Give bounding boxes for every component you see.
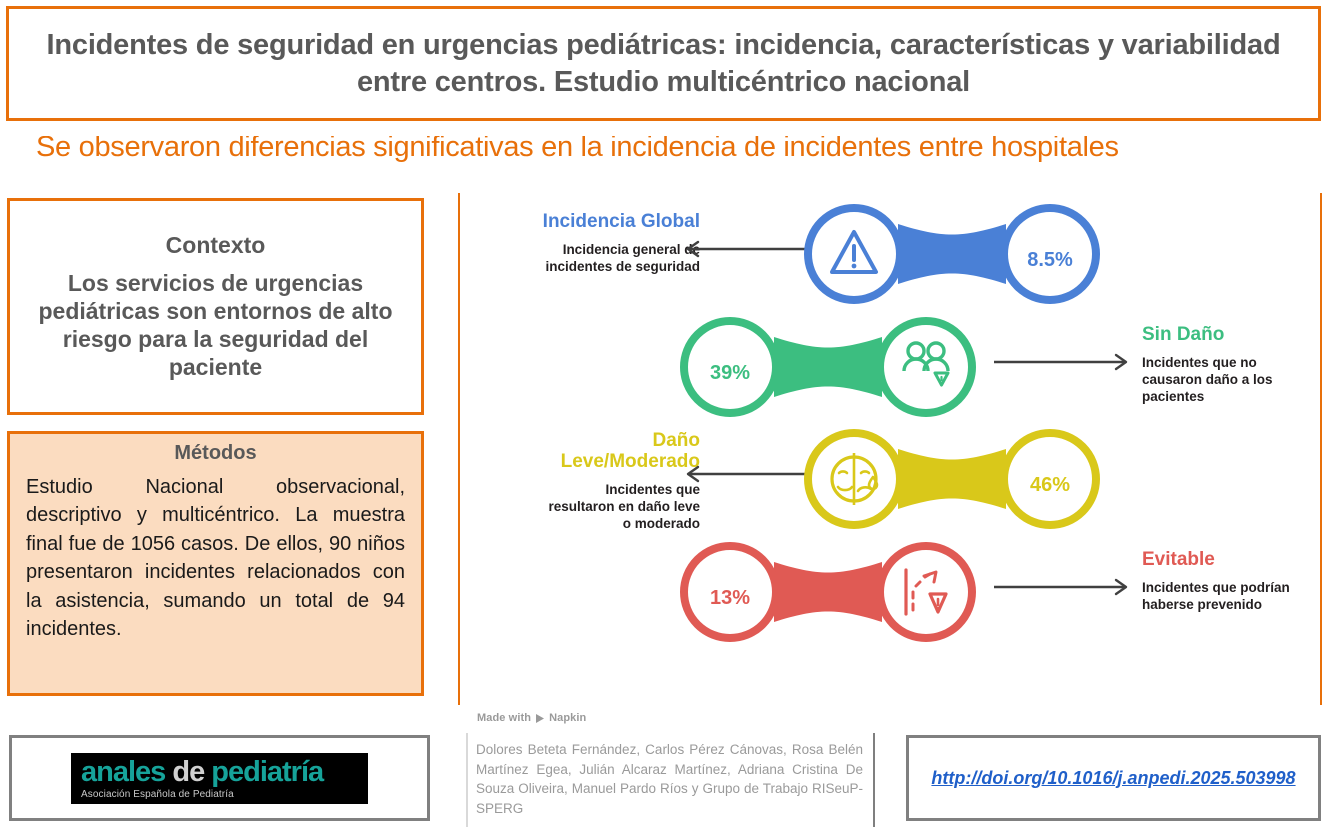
poster-subtitle-container: Se observaron diferencias significativas… — [0, 136, 1333, 174]
journal-logo-subtitle: Asociación Española de Pediatría — [81, 789, 358, 800]
row-description: Incidentes que podrían haberse prevenido — [1142, 580, 1333, 614]
infographic-row: Incidencia Global Incidencia general de … — [462, 196, 1318, 314]
logo-word-de: de — [172, 756, 204, 788]
row-label: Incidencia Global — [490, 212, 700, 233]
arrow-left-icon — [680, 465, 822, 483]
page-title: Incidentes de seguridad en urgencias ped… — [9, 27, 1318, 100]
row-label: Sin Daño — [1142, 325, 1333, 346]
row-label-block: Incidencia Global Incidencia general de … — [490, 212, 700, 276]
napkin-credit-prefix: Made with — [477, 712, 531, 724]
napkin-credit: Made with Napkin — [477, 712, 586, 724]
napkin-brand: Napkin — [549, 712, 586, 724]
doi-link[interactable]: http://doi.org/10.1016/j.anpedi.2025.503… — [931, 768, 1295, 789]
poster-title-banner: Incidentes de seguridad en urgencias ped… — [6, 6, 1321, 121]
methods-card: Métodos Estudio Nacional observacional, … — [7, 431, 424, 696]
row-value: 39% — [678, 362, 782, 385]
context-heading: Contexto — [166, 232, 266, 259]
row-value: 8.5% — [998, 249, 1102, 272]
methods-heading: Métodos — [26, 442, 405, 465]
divider-right — [1320, 193, 1322, 705]
row-label-block: Evitable Incidentes que podrían haberse … — [1142, 550, 1333, 614]
arrow-left-icon — [680, 240, 822, 258]
row-value: 46% — [998, 474, 1102, 497]
journal-logo-wordmark: anales de pediatría — [81, 758, 358, 787]
infographic-row: 39% Sin Daño Incidentes que no causaron … — [462, 309, 1318, 427]
incidents-infographic: Incidencia Global Incidencia general de … — [462, 196, 1318, 701]
row-description: Incidentes que resultaron en daño leve o… — [490, 482, 700, 533]
row-description: Incidentes que no causaron daño a los pa… — [1142, 355, 1333, 406]
logo-word-pediatria: pediatría — [211, 756, 323, 788]
row-value: 13% — [678, 587, 782, 610]
context-body: Los servicios de urgencias pediátricas s… — [22, 269, 409, 381]
row-description: Incidencia general de incidentes de segu… — [490, 242, 700, 276]
bone-graphic: 8.5% — [802, 202, 1102, 306]
authors-box: Dolores Beteta Fernández, Carlos Pérez C… — [466, 733, 875, 827]
infographic-row: 13% Evitable Incidentes que podrían habe… — [462, 534, 1318, 652]
infographic-row: Daño Leve/Moderado Incidentes que result… — [462, 421, 1318, 539]
context-card: Contexto Los servicios de urgencias pedi… — [7, 198, 424, 415]
journal-logo: anales de pediatría Asociación Española … — [71, 753, 368, 804]
bone-graphic: 46% — [802, 427, 1102, 531]
bone-graphic: 39% — [678, 315, 978, 419]
bone-graphic: 13% — [678, 540, 978, 644]
row-label: Evitable — [1142, 550, 1333, 571]
arrow-right-icon — [992, 353, 1134, 371]
row-label-block: Sin Daño Incidentes que no causaron daño… — [1142, 325, 1333, 406]
authors-list: Dolores Beteta Fernández, Carlos Pérez C… — [476, 740, 863, 819]
journal-logo-box: anales de pediatría Asociación Española … — [9, 735, 430, 821]
arrow-right-icon — [992, 578, 1134, 596]
row-label: Daño Leve/Moderado — [490, 431, 700, 473]
row-label-block: Daño Leve/Moderado Incidentes que result… — [490, 431, 700, 532]
methods-body: Estudio Nacional observacional, descript… — [26, 473, 405, 643]
doi-box: http://doi.org/10.1016/j.anpedi.2025.503… — [906, 735, 1321, 821]
napkin-logo-icon — [535, 713, 545, 724]
logo-word-anales: anales — [81, 756, 165, 788]
divider-left — [458, 193, 460, 705]
poster-subtitle: Se observaron diferencias significativas… — [36, 136, 1119, 164]
